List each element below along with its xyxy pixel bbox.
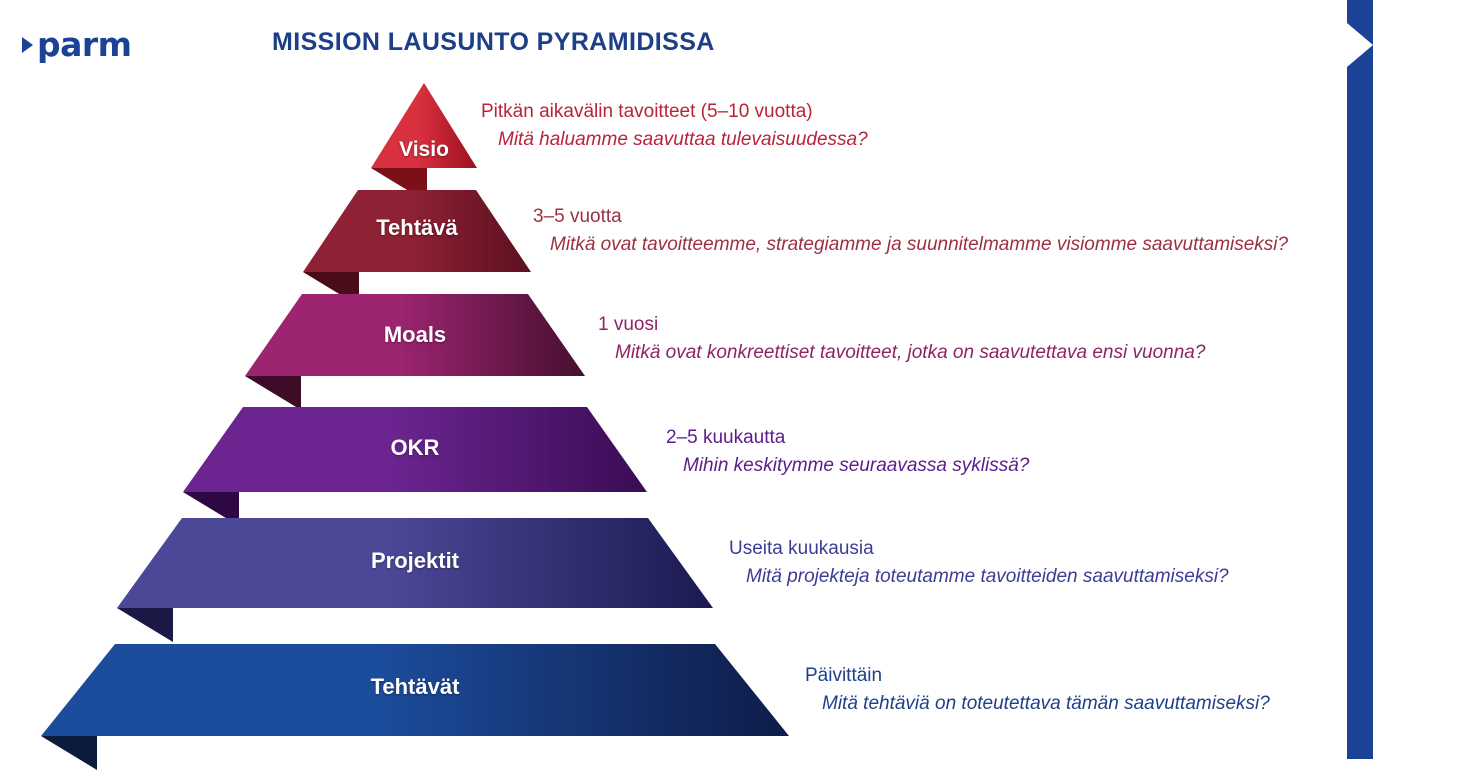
tier-annotation: Pitkän aikavälin tavoitteet (5–10 vuotta… [481,98,868,153]
tier-annotation: 1 vuosiMitkä ovat konkreettiset tavoitte… [598,311,1205,366]
tier-annotation: PäivittäinMitä tehtäviä on toteutettava … [805,662,1270,717]
tier-timeframe: Pitkän aikavälin tavoitteet (5–10 vuotta… [481,98,868,126]
tier-question: Mihin keskitymme seuraavassa syklissä? [666,452,1029,480]
tier-timeframe: 3–5 vuotta [533,203,1288,231]
tier-question: Mitä tehtäviä on toteutettava tämän saav… [805,690,1270,718]
tier-annotation: 2–5 kuukauttaMihin keskitymme seuraavass… [666,424,1029,479]
pyramid-tier-teht-v-t[interactable] [0,644,865,774]
tier-question: Mitkä ovat konkreettiset tavoitteet, jot… [598,339,1205,367]
tier-shape [0,644,865,774]
tier-timeframe: 1 vuosi [598,311,1205,339]
tier-question: Mitä haluamme saavuttaa tulevaisuudessa? [481,126,868,154]
tier-annotation: Useita kuukausiaMitä projekteja toteutam… [729,535,1229,590]
tier-question: Mitkä ovat tavoitteemme, strategiamme ja… [533,231,1288,259]
tier-timeframe: 2–5 kuukautta [666,424,1029,452]
right-accent-bar [1347,0,1373,759]
tier-annotation: 3–5 vuottaMitkä ovat tavoitteemme, strat… [533,203,1288,258]
tier-timeframe: Päivittäin [805,662,1270,690]
slide-canvas: parm MISSION LAUSUNTO PYRAMIDISSA VisioP… [0,0,1472,759]
chevron-left-notch-icon [1347,23,1373,67]
pyramid-diagram: VisioPitkän aikavälin tavoitteet (5–10 v… [0,0,1347,759]
tier-timeframe: Useita kuukausia [729,535,1229,563]
tier-question: Mitä projekteja toteutamme tavoitteiden … [729,563,1229,591]
